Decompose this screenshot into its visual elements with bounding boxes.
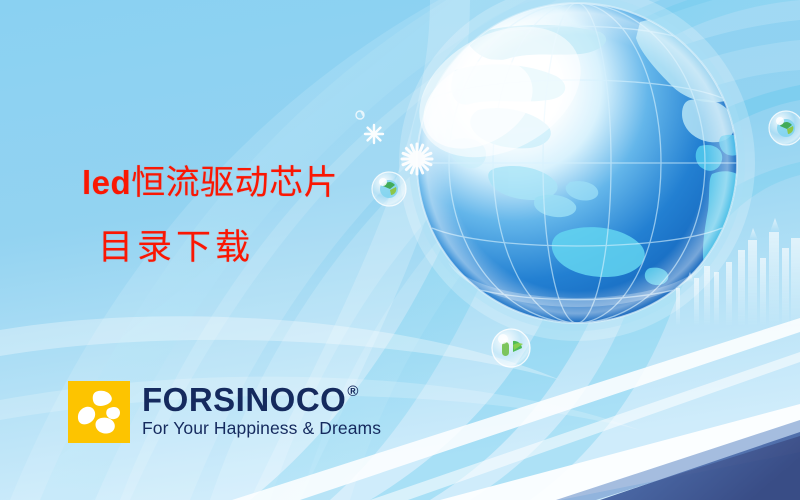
headline-line-1-latin: led	[82, 164, 131, 201]
headline-line-1-cjk: 恒流驱动芯片	[131, 163, 338, 203]
sparkle-starburst-large	[402, 144, 432, 174]
headline-line-1: led恒流驱动芯片	[82, 162, 338, 206]
headline-line-2: 目录下载	[82, 226, 338, 271]
promo-banner: led恒流驱动芯片 目录下载 FORSINOCO® For Your Happi…	[0, 0, 800, 500]
bubble-with-eco-leaf	[492, 329, 530, 367]
four-petal-pinwheel-icon	[68, 381, 130, 443]
company-logo[interactable]: FORSINOCO® For Your Happiness & Dreams	[68, 381, 381, 443]
bubble-with-globe-small	[372, 172, 406, 206]
logo-wordmark: FORSINOCO®	[142, 383, 381, 416]
logo-wordmark-text: FORSINOCO	[142, 383, 346, 416]
registered-trademark-symbol: ®	[347, 384, 359, 399]
logo-text-block: FORSINOCO® For Your Happiness & Dreams	[142, 381, 381, 438]
bubble-with-globe-edge	[769, 111, 800, 145]
headline-text: led恒流驱动芯片 目录下载	[82, 162, 338, 270]
sparkle-starburst-small	[365, 125, 383, 143]
logo-tagline: For Your Happiness & Dreams	[142, 419, 381, 438]
